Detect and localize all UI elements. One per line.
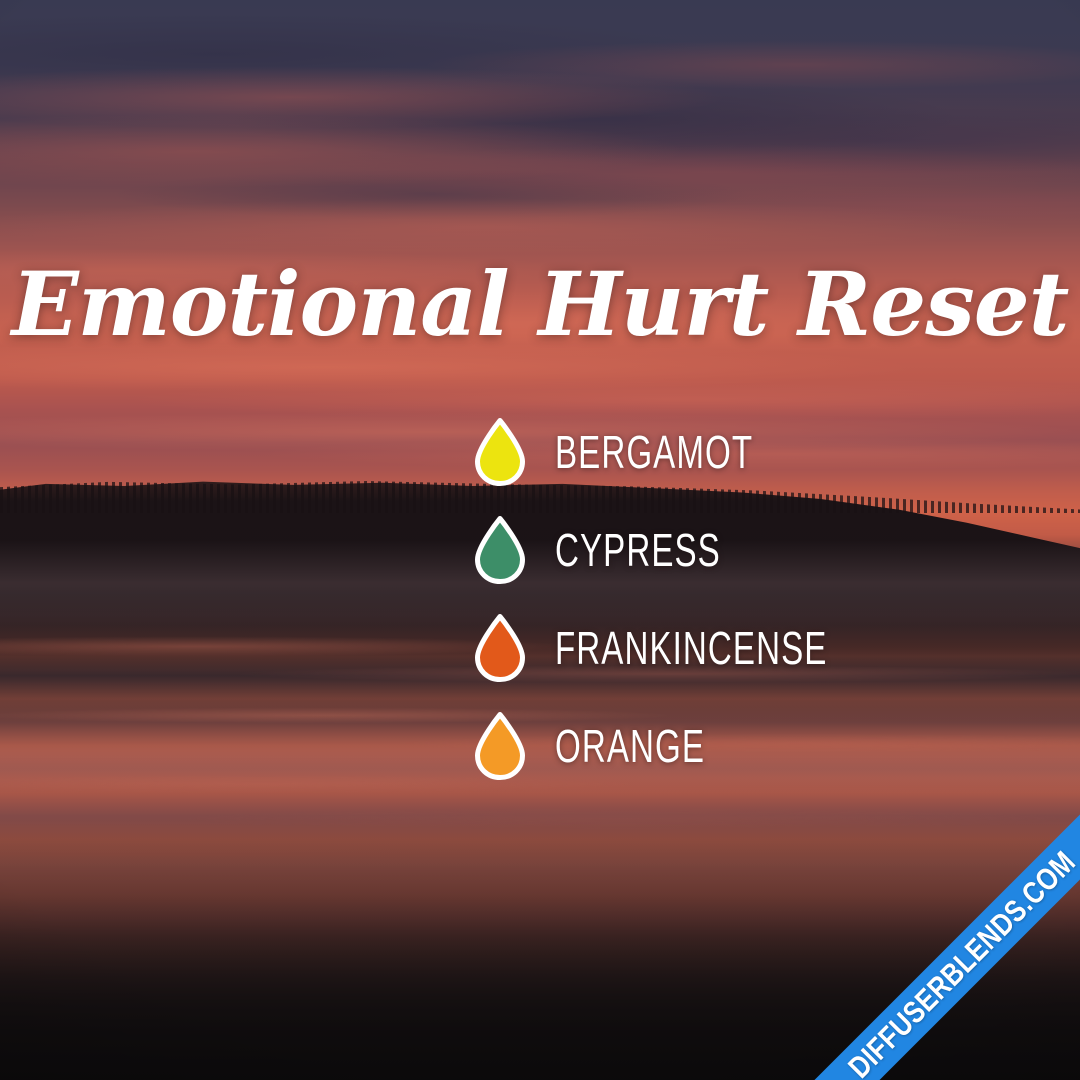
ingredient-row: FRANKINCENSE: [473, 614, 933, 682]
ingredient-name: FRANKINCENSE: [555, 625, 827, 671]
blend-recipe-card: Emotional Hurt Reset BERGAMOT CYPRESS: [0, 0, 1080, 1080]
blend-title: Emotional Hurt Reset: [0, 258, 1080, 350]
ingredient-row: CYPRESS: [473, 516, 933, 584]
oil-drop-icon: [473, 614, 527, 682]
ingredient-list: BERGAMOT CYPRESS FRANKINCENSE: [473, 418, 933, 780]
ingredient-row: ORANGE: [473, 712, 933, 780]
oil-drop-icon: [473, 516, 527, 584]
ingredient-name: ORANGE: [555, 723, 705, 769]
ingredient-name: BERGAMOT: [555, 429, 753, 475]
oil-drop-icon: [473, 418, 527, 486]
oil-drop-icon: [473, 712, 527, 780]
ingredient-name: CYPRESS: [555, 527, 721, 573]
ingredient-row: BERGAMOT: [473, 418, 933, 486]
